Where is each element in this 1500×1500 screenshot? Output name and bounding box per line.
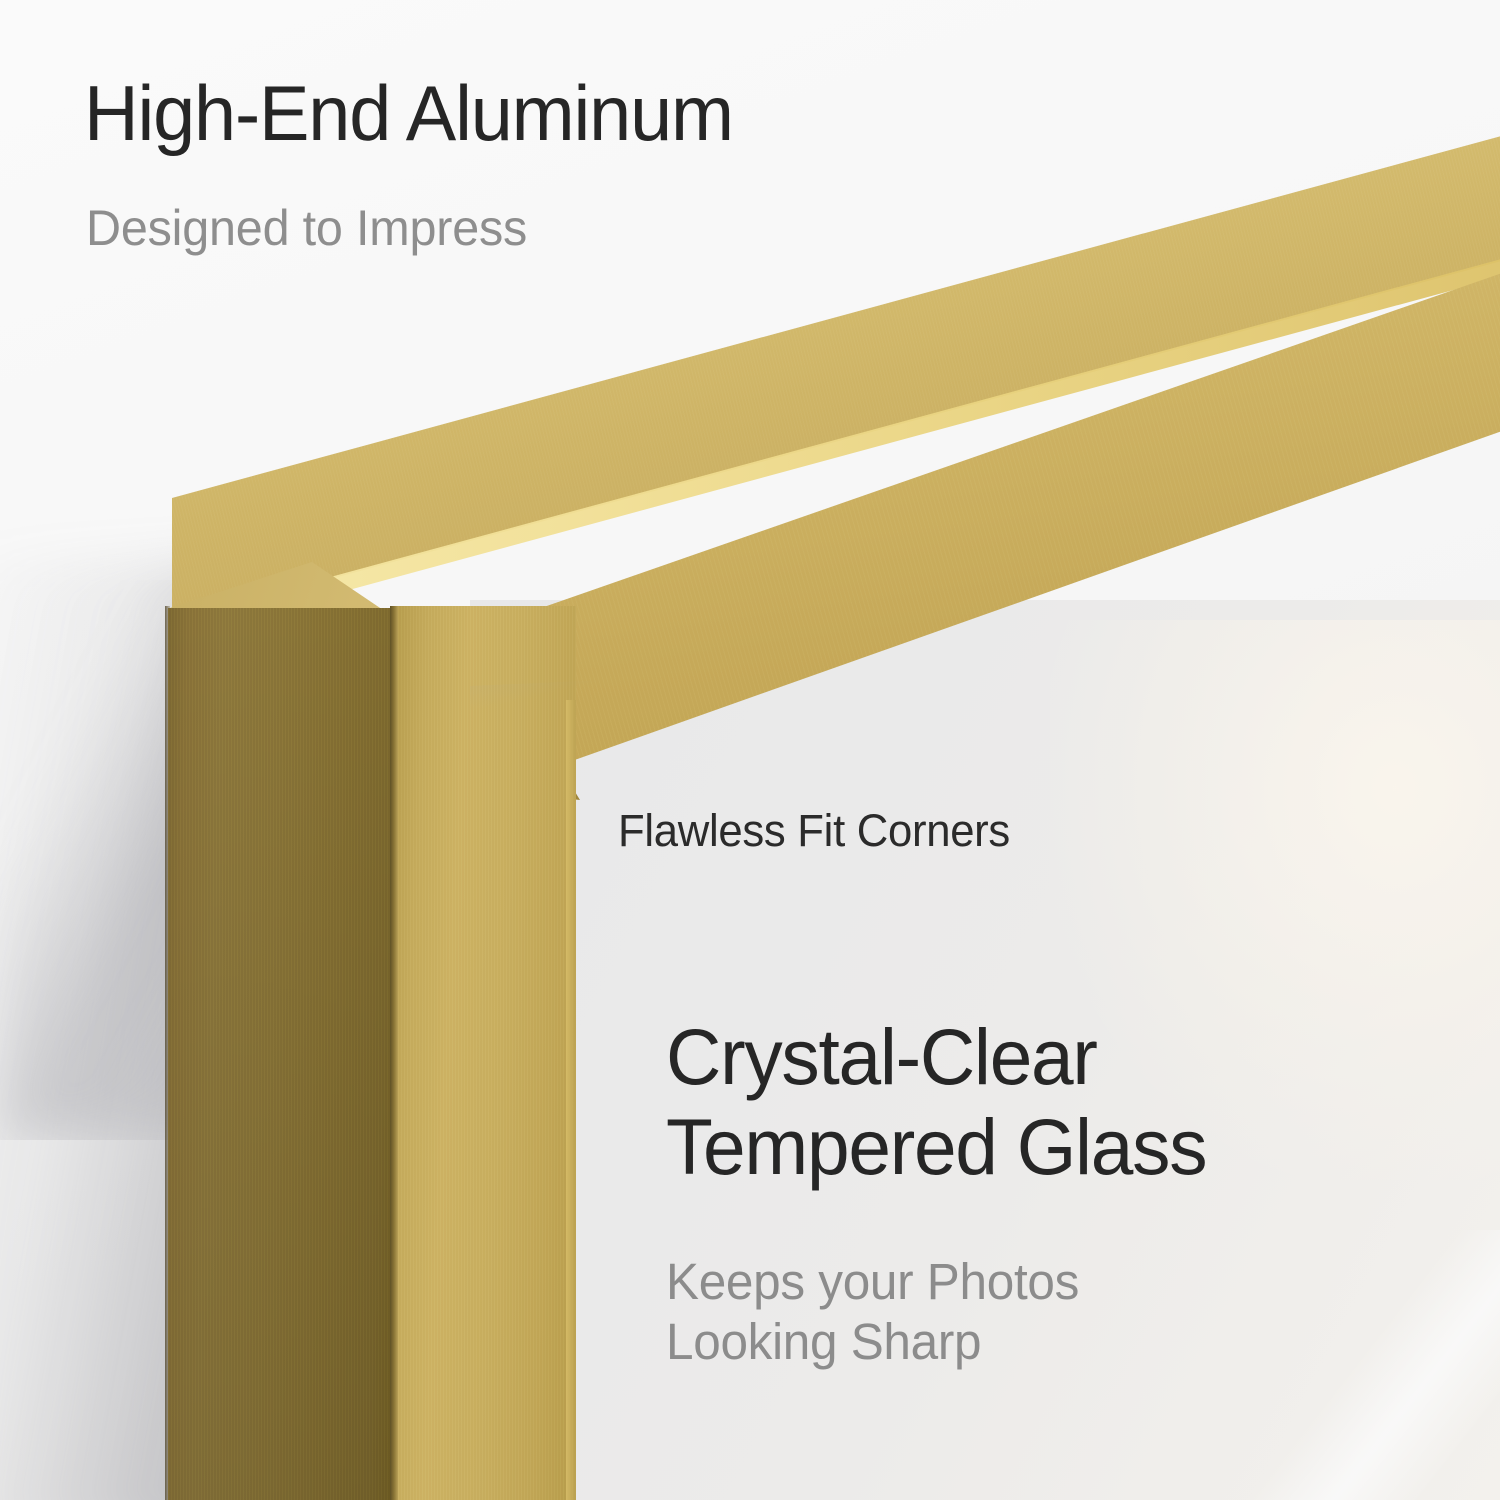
glass-feature-subtitle-line-1: Keeps your Photos — [666, 1253, 1079, 1310]
frame-left-rail-shading — [168, 608, 393, 1500]
glass-feature-title-line-2: Tempered Glass — [666, 1102, 1206, 1191]
product-feature-image: High-End Aluminum Designed to Impress Fl… — [0, 0, 1500, 1500]
glass-feature-subtitle: Keeps your PhotosLooking Sharp — [666, 1252, 1079, 1372]
glass-feature-subtitle-line-2: Looking Sharp — [666, 1313, 981, 1370]
page-subtitle: Designed to Impress — [86, 201, 527, 256]
page-title: High-End Aluminum — [84, 72, 733, 155]
glass-feature-title: Crystal-ClearTempered Glass — [666, 1012, 1206, 1192]
callout-flawless-fit-corners: Flawless Fit Corners — [618, 806, 1010, 856]
glass-feature-title-line-1: Crystal-Clear — [666, 1012, 1097, 1101]
